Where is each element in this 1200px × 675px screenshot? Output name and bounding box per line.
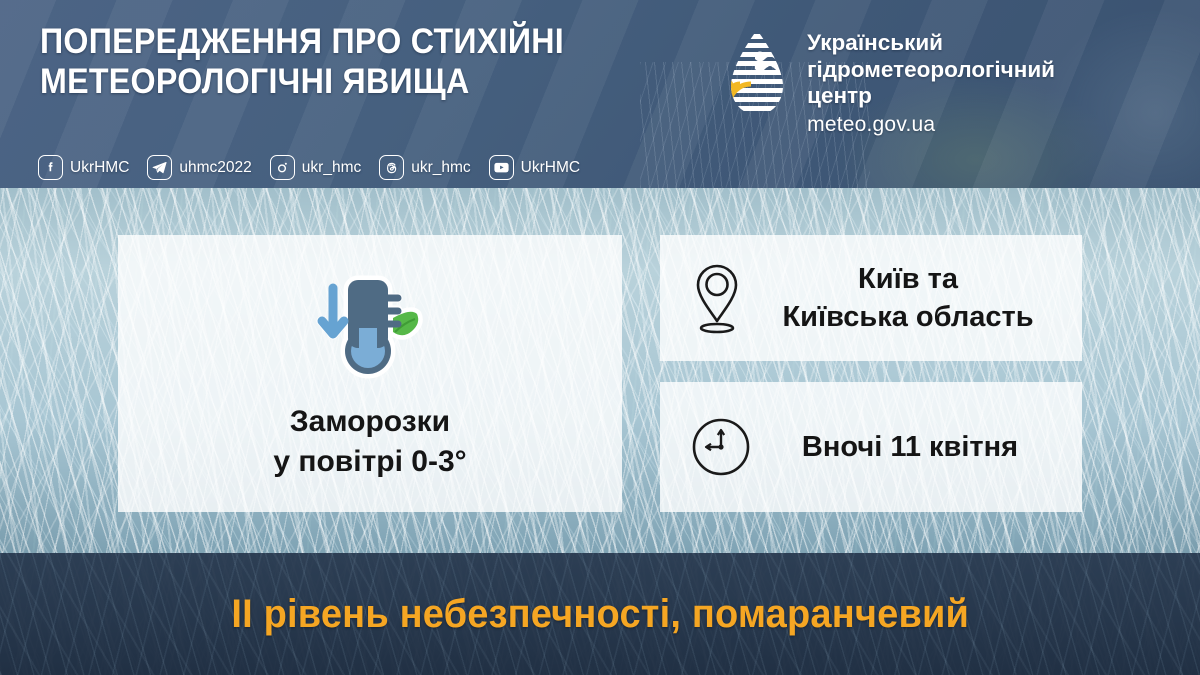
phenomenon-card: Заморозки у повітрі 0-3°	[118, 235, 622, 512]
location-text: Київ та Київська область	[746, 260, 1082, 336]
social-links-row: UkrHMC uhmc2022 ukr_hmc ukr_h	[38, 155, 598, 180]
social-link-threads[interactable]: ukr_hmc	[379, 155, 470, 180]
logo-text-block: Український гідрометеорологічний центр m…	[807, 28, 1055, 140]
page-title-line-2: МЕТЕОРОЛОГІЧНІ ЯВИЩА	[40, 62, 564, 102]
phenomenon-text-line-2: у повітрі 0-3°	[273, 442, 466, 482]
facebook-icon	[38, 155, 63, 180]
youtube-icon	[489, 155, 514, 180]
phenomenon-text-line-1: Заморозки	[273, 402, 466, 442]
social-label-instagram: ukr_hmc	[302, 159, 361, 177]
clock-icon	[690, 416, 752, 478]
location-card: Київ та Київська область	[660, 235, 1082, 361]
time-card: Вночі 11 квітня	[660, 382, 1082, 512]
logo-website-url[interactable]: meteo.gov.ua	[807, 110, 1055, 140]
social-link-facebook[interactable]: UkrHMC	[38, 155, 129, 180]
location-text-line-1: Київ та	[746, 260, 1070, 298]
water-drop-logo-icon	[725, 28, 789, 120]
social-label-telegram: uhmc2022	[179, 159, 251, 177]
danger-level-text: II рівень небезпечності, помаранчевий	[231, 592, 969, 637]
page-title: ПОПЕРЕДЖЕННЯ ПРО СТИХІЙНІ МЕТЕОРОЛОГІЧНІ…	[40, 22, 610, 102]
organization-logo[interactable]: Український гідрометеорологічний центр m…	[725, 28, 1055, 140]
social-label-facebook: UkrHMC	[70, 159, 129, 177]
danger-level-banner: II рівень небезпечності, помаранчевий	[0, 553, 1200, 675]
telegram-icon	[147, 155, 172, 180]
social-link-youtube[interactable]: UkrHMC	[489, 155, 580, 180]
map-pin-icon	[688, 261, 746, 335]
threads-icon	[379, 155, 404, 180]
logo-name-line-1: Український	[807, 30, 1055, 57]
location-text-line-2: Київська область	[746, 298, 1070, 336]
time-text: Вночі 11 квітня	[752, 428, 1082, 466]
phenomenon-text: Заморозки у повітрі 0-3°	[273, 402, 466, 482]
weather-warning-poster: ПОПЕРЕДЖЕННЯ ПРО СТИХІЙНІ МЕТЕОРОЛОГІЧНІ…	[0, 0, 1200, 675]
logo-name-line-2: гідрометеорологічний	[807, 57, 1055, 84]
logo-name-line-3: центр	[807, 83, 1055, 110]
instagram-icon	[270, 155, 295, 180]
social-link-instagram[interactable]: ukr_hmc	[270, 155, 361, 180]
page-title-line-1: ПОПЕРЕДЖЕННЯ ПРО СТИХІЙНІ	[40, 22, 564, 62]
social-label-threads: ukr_hmc	[411, 159, 470, 177]
social-label-youtube: UkrHMC	[521, 159, 580, 177]
thermometer-down-leaf-icon	[315, 266, 425, 386]
social-link-telegram[interactable]: uhmc2022	[147, 155, 251, 180]
